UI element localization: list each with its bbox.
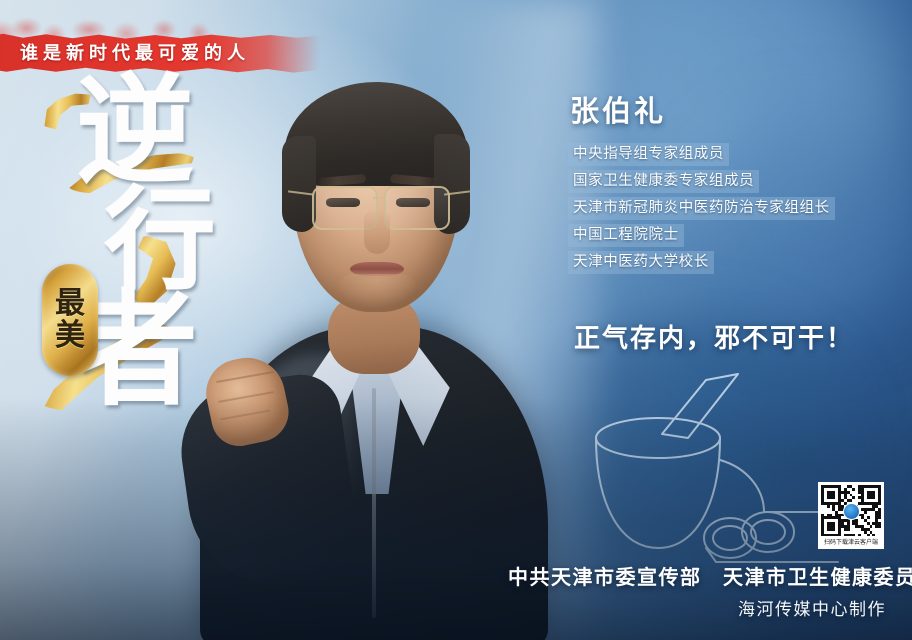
credential-item: 天津市新冠肺炎中医药防治专家组组长 [568,197,835,220]
credential-item: 天津中医药大学校长 [568,251,714,274]
credential-item: 中央指导组专家组成员 [568,143,729,166]
banner-title: 谁是新时代最可爱的人 [20,38,310,68]
quote-text: 正气存内，邪不可干！ [574,318,854,355]
seal-character-1: 最 [55,289,85,319]
calligraphy-title: 逆 行 者 最 美 [18,78,218,428]
footer-organizations: 中共天津市委宣传部 天津市卫生健康委员会 [508,561,912,590]
credential-item: 国家卫生健康委专家组成员 [568,170,759,193]
credential-item: 中国工程院院士 [568,224,684,247]
qr-code-matrix [821,485,881,537]
credentials-list: 中央指导组专家组成员 国家卫生健康委专家组成员 天津市新冠肺炎中医药防治专家组组… [568,143,835,274]
gold-seal-badge: 最 美 [42,264,98,376]
footer-producer: 海河传媒中心制作 [738,595,886,620]
poster-canvas: 谁是新时代最可爱的人 逆 行 者 最 美 张伯礼 中央指导组专家组成员 国家卫生… [0,0,912,640]
title-character-1: 逆 [76,74,194,192]
seal-character-2: 美 [55,321,85,351]
qr-center-logo-icon [843,503,860,520]
title-character-2: 行 [104,186,216,298]
qr-caption: 扫码下载津云客户端 [818,537,884,549]
person-name: 张伯礼 [570,88,666,130]
